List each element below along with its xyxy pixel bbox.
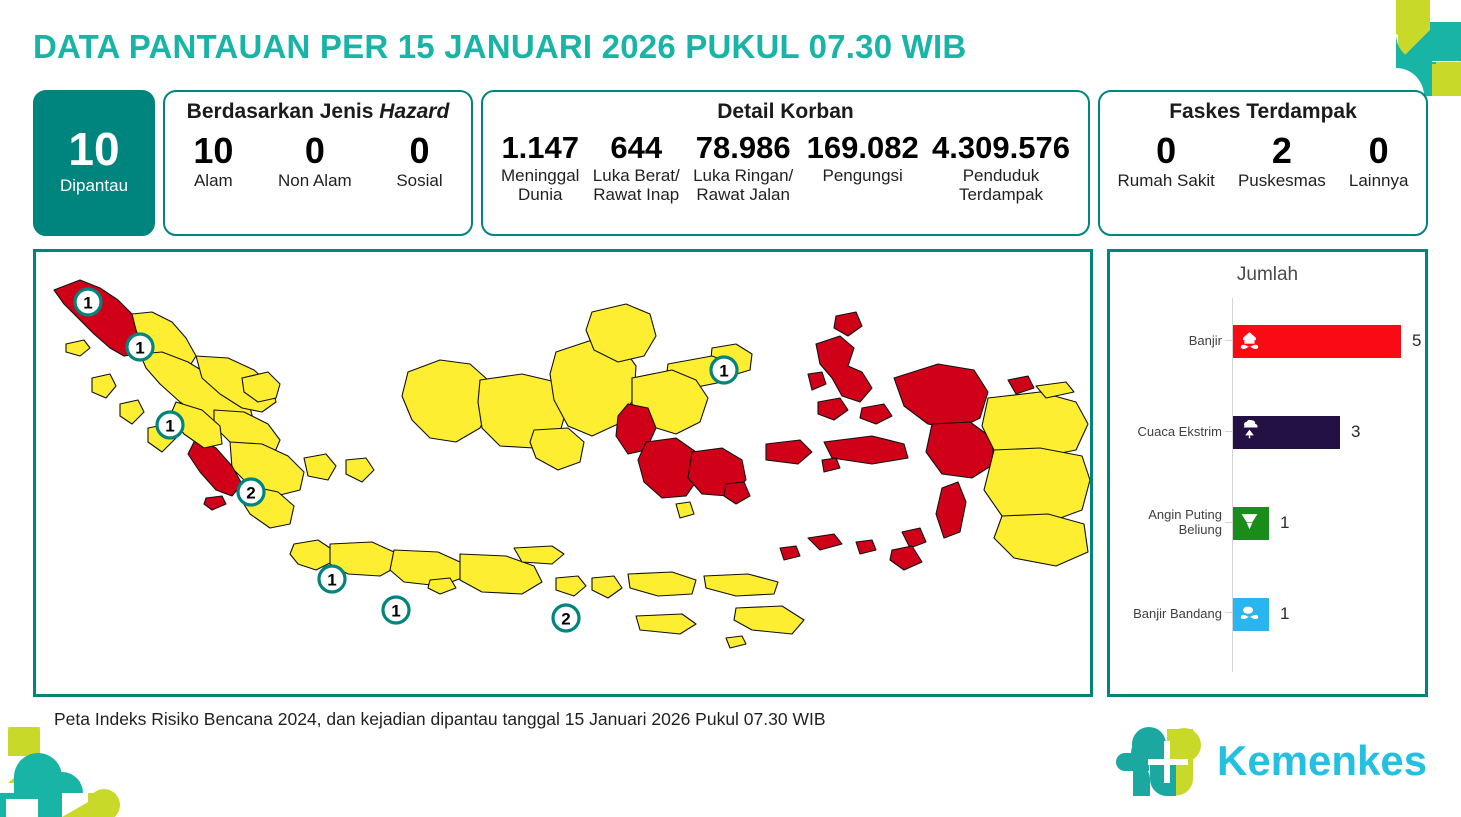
island-morotai[interactable] — [834, 312, 862, 336]
monitored-value: 10 — [68, 126, 119, 172]
metric-value: 644 — [593, 132, 680, 165]
region-yogyakarta[interactable] — [428, 578, 456, 594]
metric-label: Rumah Sakit — [1118, 171, 1215, 190]
island-lombok[interactable] — [592, 576, 622, 598]
metric-label: Penduduk Terdampak — [932, 166, 1070, 204]
metric-label: Luka Ringan/ Rawat Jalan — [693, 166, 793, 204]
metric-value: 0 — [278, 132, 352, 170]
map-marker-label: 1 — [719, 362, 728, 381]
island-bali[interactable] — [556, 576, 586, 596]
risk-map-panel[interactable]: 1 1 1 2 1 1 2 — [33, 249, 1093, 697]
map-marker-label: 1 — [165, 417, 174, 436]
map-marker[interactable]: 1 — [383, 597, 409, 623]
map-marker-label: 1 — [135, 339, 144, 358]
hazard-card-title: Berdasarkan Jenis Hazard — [171, 100, 465, 124]
map-marker[interactable]: 1 — [127, 334, 153, 360]
metric-label: Alam — [193, 171, 233, 190]
korban-card-title: Detail Korban — [491, 100, 1080, 124]
hazard-metric-non-alam: 0 Non Alam — [276, 132, 354, 190]
indonesia-risk-map[interactable]: 1 1 1 2 1 1 2 — [36, 252, 1090, 694]
bar-label: Banjir — [1110, 334, 1228, 349]
bar-value: 1 — [1280, 604, 1289, 624]
map-marker[interactable]: 2 — [238, 479, 264, 505]
bar-banjir-bandang[interactable] — [1233, 598, 1269, 631]
metric-label: Non Alam — [278, 171, 352, 190]
chart-title: Jumlah — [1110, 264, 1425, 286]
island-babar[interactable] — [856, 540, 876, 554]
map-marker[interactable]: 2 — [553, 605, 579, 631]
island-rote[interactable] — [726, 636, 746, 648]
korban-metrics: 1.147 Meninggal Dunia 644 Luka Berat/ Ra… — [491, 132, 1080, 204]
metric-value: 0 — [1118, 132, 1215, 170]
bar-angin-puting-beliung[interactable] — [1233, 507, 1269, 540]
hazard-count-chart-panel: Jumlah Banjir 5 Cu — [1107, 249, 1428, 697]
metric-label: Meninggal Dunia — [501, 166, 579, 204]
island-flores[interactable] — [704, 574, 778, 596]
island-sumbawa[interactable] — [628, 572, 696, 596]
map-marker-label: 2 — [246, 484, 255, 503]
island-nias[interactable] — [92, 374, 116, 398]
region-kalimantan-selatan[interactable] — [530, 428, 584, 470]
tornado-pin-icon — [1233, 507, 1266, 540]
bar-cuaca-ekstrim[interactable] — [1233, 416, 1340, 449]
bar-value: 3 — [1351, 422, 1360, 442]
island-sumba[interactable] — [636, 614, 696, 634]
flash-flood-pin-icon — [1233, 598, 1266, 631]
korban-metric-penduduk-terdampak: 4.309.576 Penduduk Terdampak — [930, 132, 1072, 204]
island-bangka[interactable] — [304, 454, 336, 480]
metric-value: 1.147 — [501, 132, 579, 165]
island-buton[interactable] — [724, 482, 750, 504]
map-marker[interactable]: 1 — [157, 412, 183, 438]
chart-bar-row-banjir[interactable]: Banjir 5 — [1110, 318, 1425, 364]
metric-label: Puskesmas — [1238, 171, 1326, 190]
bar-banjir[interactable] — [1233, 325, 1401, 358]
island-kei[interactable] — [902, 528, 926, 548]
island-belitung[interactable] — [346, 458, 374, 482]
flood-pin-icon — [1233, 325, 1266, 358]
hazard-title-italic: Hazard — [379, 100, 449, 123]
island-madura[interactable] — [514, 546, 564, 564]
hazard-metric-sosial: 0 Sosial — [394, 132, 444, 190]
hazard-metric-alam: 10 Alam — [191, 132, 235, 190]
island-ambon[interactable] — [822, 458, 840, 472]
faskes-metric-puskesmas: 2 Puskesmas — [1236, 132, 1328, 190]
card-affected-health-facilities: Faskes Terdampak 0 Rumah Sakit 2 Puskesm… — [1098, 90, 1428, 236]
decoration-top-right — [1336, 0, 1461, 96]
region-papua[interactable] — [984, 448, 1090, 524]
chart-body: Banjir 5 Cuaca Ekstrim — [1110, 296, 1425, 676]
metric-value: 0 — [1349, 132, 1409, 170]
map-marker[interactable]: 1 — [711, 357, 737, 383]
card-hazard-type: Berdasarkan Jenis Hazard 10 Alam 0 Non A… — [163, 90, 473, 236]
island-tanimbar[interactable] — [890, 546, 922, 570]
kemenkes-logo-text: Kemenkes — [1217, 737, 1427, 784]
korban-metric-luka-ringan: 78.986 Luka Ringan/ Rawat Jalan — [691, 132, 795, 204]
faskes-card-title: Faskes Terdampak — [1106, 100, 1420, 124]
korban-metric-luka-berat: 644 Luka Berat/ Rawat Inap — [591, 132, 682, 204]
bar-value: 1 — [1280, 513, 1289, 533]
map-marker-label: 1 — [83, 294, 92, 313]
faskes-metric-rumah-sakit: 0 Rumah Sakit — [1116, 132, 1217, 190]
island-aru[interactable] — [936, 482, 966, 538]
decoration-bottom-left — [0, 727, 140, 817]
bar-label: Banjir Bandang — [1110, 607, 1228, 622]
metric-label: Luka Berat/ Rawat Inap — [593, 166, 680, 204]
bar-label: Angin Puting Beliung — [1110, 508, 1228, 538]
korban-metric-meninggal-dunia: 1.147 Meninggal Dunia — [499, 132, 581, 204]
chart-bar-row-angin-puting-beliung[interactable]: Angin Puting Beliung 1 — [1110, 500, 1425, 546]
island-alor-kecil[interactable] — [780, 546, 800, 560]
metric-value: 4.309.576 — [932, 132, 1070, 165]
card-victim-detail: Detail Korban 1.147 Meninggal Dunia 644 … — [481, 90, 1090, 236]
map-marker-label: 1 — [327, 571, 336, 590]
map-caption: Peta Indeks Risiko Bencana 2024, dan kej… — [54, 709, 826, 730]
island-obi[interactable] — [860, 404, 892, 424]
island-halmahera[interactable] — [816, 336, 872, 402]
chart-bar-row-banjir-bandang[interactable]: Banjir Bandang 1 — [1110, 591, 1425, 637]
region-papua-barat[interactable] — [894, 364, 988, 430]
metric-value: 2 — [1238, 132, 1326, 170]
hazard-title-plain: Berdasarkan Jenis — [187, 100, 380, 123]
island-selayar[interactable] — [676, 502, 694, 518]
island-simeulue[interactable] — [66, 340, 90, 356]
island-wetar[interactable] — [808, 534, 842, 550]
card-monitored: 10 Dipantau — [33, 90, 155, 236]
extreme-weather-pin-icon — [1233, 416, 1266, 449]
island-ternate[interactable] — [808, 372, 826, 390]
island-timor[interactable] — [734, 606, 804, 634]
faskes-metrics: 0 Rumah Sakit 2 Puskesmas 0 Lainnya — [1106, 132, 1420, 190]
bar-label: Cuaca Ekstrim — [1110, 425, 1228, 440]
island-enggano[interactable] — [204, 496, 226, 510]
metric-value: 10 — [193, 132, 233, 170]
korban-metric-pengungsi: 169.082 Pengungsi — [805, 132, 921, 185]
metric-value: 0 — [396, 132, 442, 170]
map-marker[interactable]: 1 — [75, 289, 101, 315]
region-banten[interactable] — [290, 540, 332, 570]
map-marker-label: 2 — [561, 610, 570, 629]
metric-value: 78.986 — [693, 132, 793, 165]
summary-stats-row: 10 Dipantau Berdasarkan Jenis Hazard 10 … — [33, 90, 1428, 236]
map-marker-label: 1 — [391, 602, 400, 621]
island-biak[interactable] — [1008, 376, 1034, 394]
kemenkes-logo: Kemenkes — [1115, 723, 1435, 799]
kemenkes-logo-mark — [1116, 727, 1201, 796]
island-buru[interactable] — [766, 440, 812, 464]
chart-bar-row-cuaca-ekstrim[interactable]: Cuaca Ekstrim 3 — [1110, 409, 1425, 455]
page-title: DATA PANTAUAN PER 15 JANUARI 2026 PUKUL … — [33, 28, 966, 66]
hazard-metrics: 10 Alam 0 Non Alam 0 Sosial — [171, 132, 465, 190]
island-mentawai-n[interactable] — [120, 400, 144, 424]
map-marker[interactable]: 1 — [319, 566, 345, 592]
metric-value: 169.082 — [807, 132, 919, 165]
metric-label: Lainnya — [1349, 171, 1409, 190]
island-bacan[interactable] — [818, 398, 848, 420]
monitored-label: Dipantau — [60, 176, 128, 196]
metric-label: Pengungsi — [807, 166, 919, 185]
metric-label: Sosial — [396, 171, 442, 190]
bar-value: 5 — [1412, 331, 1421, 351]
faskes-metric-lainnya: 0 Lainnya — [1347, 132, 1411, 190]
region-papua-selatan[interactable] — [994, 514, 1088, 566]
